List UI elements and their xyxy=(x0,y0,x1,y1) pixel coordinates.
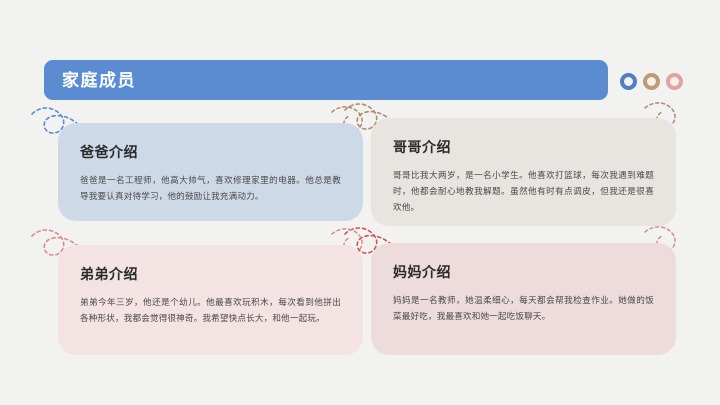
ring-pink-icon xyxy=(666,73,683,90)
ring-tan-icon xyxy=(643,73,660,90)
slide-canvas: 家庭成员 爸爸介绍 爸爸是一名工程师，他高大帅气，喜欢修理家 xyxy=(0,0,720,405)
card-title-mom: 妈妈介绍 xyxy=(393,265,654,279)
card-brother[interactable]: 哥哥介绍 哥哥比我大两岁，是一名小学生。他喜欢打篮球，每次我遇到难题时，他都会耐… xyxy=(371,118,676,226)
card-body-brother: 哥哥比我大两岁，是一名小学生。他喜欢打篮球，每次我遇到难题时，他都会耐心地教我解… xyxy=(393,168,654,216)
card-mom[interactable]: 妈妈介绍 妈妈是一名教师，她温柔细心，每天都会帮我检查作业。她做的饭菜最好吃，我… xyxy=(371,243,676,355)
card-title-younger-brother: 弟弟介绍 xyxy=(80,267,341,281)
card-dad[interactable]: 爸爸介绍 爸爸是一名工程师，他高大帅气，喜欢修理家里的电器。他总是教导我要认真对… xyxy=(58,123,363,221)
card-body-dad: 爸爸是一名工程师，他高大帅气，喜欢修理家里的电器。他总是教导我要认真对待学习，他… xyxy=(80,173,341,205)
card-body-mom: 妈妈是一名教师，她温柔细心，每天都会帮我检查作业。她做的饭菜最好吃，我最喜欢和她… xyxy=(393,293,654,325)
card-younger-brother[interactable]: 弟弟介绍 弟弟今年三岁，他还是个幼儿。他最喜欢玩积木，每次看到他拼出各种形状，我… xyxy=(58,245,363,355)
decorative-rings xyxy=(620,70,700,92)
ring-blue-icon xyxy=(620,73,637,90)
title-bar: 家庭成员 xyxy=(44,60,608,100)
card-title-dad: 爸爸介绍 xyxy=(80,145,341,159)
card-title-brother: 哥哥介绍 xyxy=(393,140,654,154)
page-title: 家庭成员 xyxy=(62,72,136,89)
header: 家庭成员 xyxy=(0,60,720,104)
card-body-younger-brother: 弟弟今年三岁，他还是个幼儿。他最喜欢玩积木，每次看到他拼出各种形状，我都会觉得很… xyxy=(80,295,341,327)
